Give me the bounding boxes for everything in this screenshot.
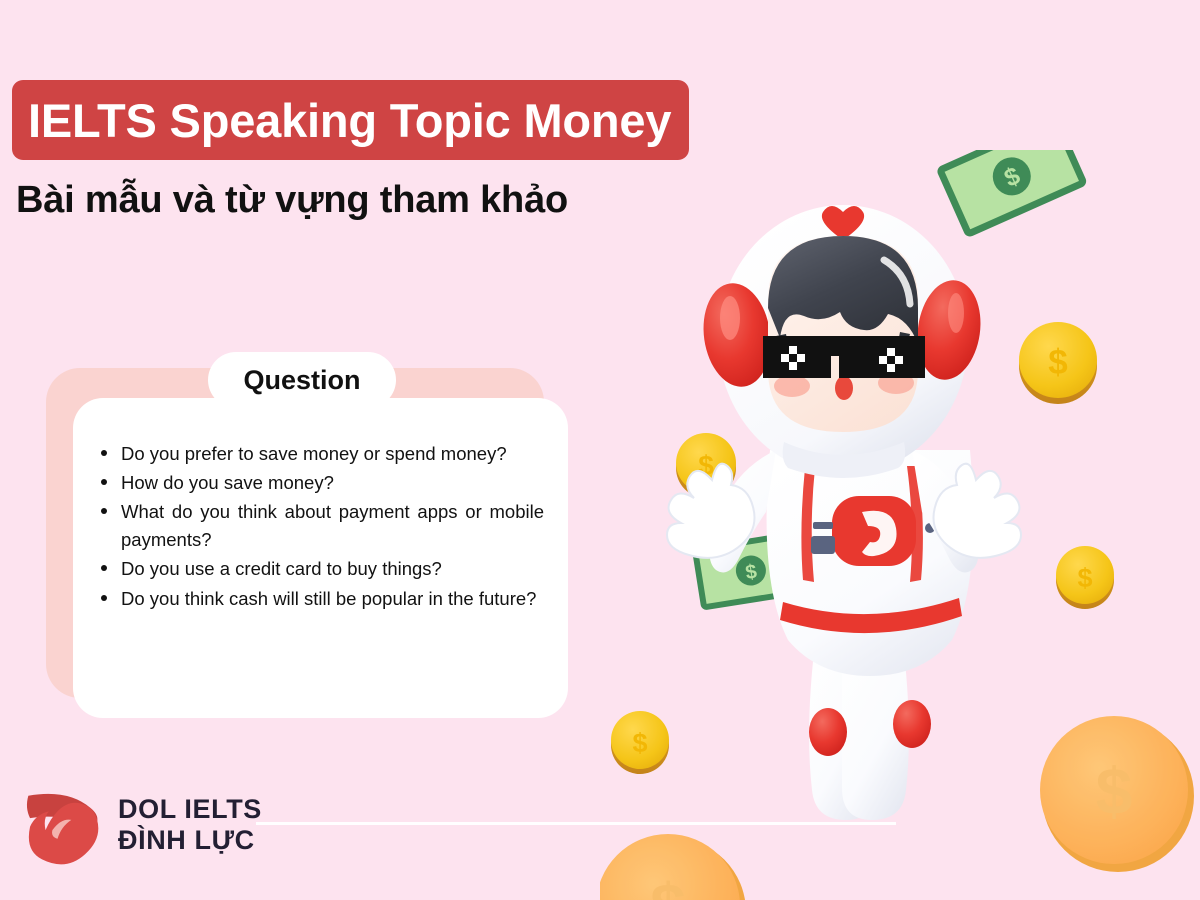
svg-text:$: $ (1077, 563, 1092, 593)
astronaut-mascot-icon (667, 205, 1021, 820)
brand-line-2: ĐÌNH LỰC (118, 827, 262, 854)
footer-divider (256, 822, 896, 825)
gold-coin-dollar-icon: $ (1056, 546, 1114, 609)
astronaut-mascot-with-money-illustration: $ $ $ $ (600, 150, 1200, 900)
list-item: Do you prefer to save money or spend mon… (121, 440, 550, 468)
svg-text:$: $ (1096, 754, 1133, 828)
list-item: Do you think cash will still be popular … (121, 585, 550, 613)
poster-canvas: $ $ $ $ (0, 0, 1200, 900)
page-subtitle: Bài mẫu và từ vựng tham khảo (16, 180, 568, 222)
illustration-svg: $ $ $ $ (600, 150, 1200, 900)
list-item: Do you use a credit card to buy things? (121, 555, 550, 583)
question-list: Do you prefer to save money or spend mon… (83, 440, 550, 613)
gold-coin-dollar-icon: $ (1040, 716, 1194, 872)
question-tab-label: Question (243, 365, 360, 396)
brand-line-1: DOL IELTS (118, 796, 262, 823)
list-item: How do you save money? (121, 469, 550, 497)
brand-wordmark: DOL IELTS ĐÌNH LỰC (118, 796, 262, 854)
svg-text:$: $ (1048, 343, 1067, 382)
dol-leaf-logo-icon (18, 782, 104, 868)
page-title-banner: IELTS Speaking Topic Money (12, 80, 689, 160)
pixel-sunglasses-icon (763, 336, 925, 378)
gold-coin-dollar-icon: $ (600, 834, 746, 900)
gold-coin-dollar-icon: $ (611, 711, 669, 774)
gold-coin-dollar-icon: $ (1019, 322, 1097, 404)
svg-text:$: $ (632, 728, 647, 758)
question-tab: Question (208, 352, 396, 408)
banknote-icon: $ (940, 150, 1084, 234)
brand-logo: DOL IELTS ĐÌNH LỰC (18, 782, 262, 868)
list-item: What do you think about payment apps or … (121, 498, 550, 554)
question-card: Do you prefer to save money or spend mon… (73, 398, 568, 718)
svg-text:$: $ (650, 870, 686, 900)
page-title: IELTS Speaking Topic Money (28, 97, 671, 144)
